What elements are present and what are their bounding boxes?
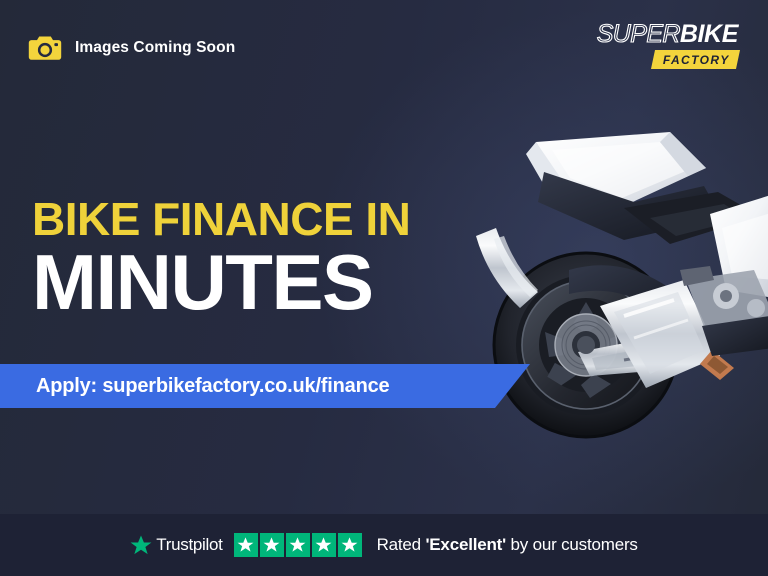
- camera-icon: [28, 35, 62, 61]
- headline-line-2: MINUTES: [32, 244, 410, 320]
- top-bar: Images Coming Soon SUPERBIKE FACTORY: [0, 0, 768, 96]
- rated-excellent-text: Rated 'Excellent' by our customers: [377, 535, 638, 555]
- star-icon: [263, 537, 280, 553]
- headline-line-1: BIKE FINANCE IN: [32, 196, 410, 242]
- trustpilot-footer: Trustpilot: [0, 514, 768, 576]
- superbike-factory-logo[interactable]: SUPERBIKE FACTORY: [608, 22, 738, 74]
- rated-emphasis: 'Excellent': [425, 535, 506, 554]
- rating-star-5: [338, 533, 362, 557]
- images-coming-soon-label: Images Coming Soon: [75, 39, 235, 57]
- logo-factory-banner: FACTORY: [608, 50, 738, 69]
- trustpilot-rating-stars: [234, 533, 362, 557]
- headline-block: BIKE FINANCE IN MINUTES: [32, 196, 410, 320]
- images-coming-soon: Images Coming Soon: [28, 35, 235, 61]
- rated-prefix: Rated: [377, 535, 426, 554]
- promo-banner: Images Coming Soon SUPERBIKE FACTORY BIK…: [0, 0, 768, 576]
- trustpilot-star-icon: [130, 535, 152, 556]
- trustpilot-brand[interactable]: Trustpilot: [130, 535, 222, 556]
- star-icon: [341, 537, 358, 553]
- rating-star-3: [286, 533, 310, 557]
- trustpilot-name: Trustpilot: [156, 535, 222, 555]
- logo-bike-text: BIKE: [680, 22, 738, 47]
- rating-star-2: [260, 533, 284, 557]
- star-icon: [315, 537, 332, 553]
- logo-wordmark: SUPERBIKE: [608, 22, 738, 47]
- logo-factory-text: FACTORY: [663, 54, 730, 66]
- star-icon: [289, 537, 306, 553]
- rating-star-1: [234, 533, 258, 557]
- logo-factory-badge: FACTORY: [651, 50, 740, 69]
- logo-super-text: SUPER: [597, 22, 680, 47]
- apply-url-text: Apply: superbikefactory.co.uk/finance: [36, 375, 389, 398]
- apply-url-banner[interactable]: Apply: superbikefactory.co.uk/finance: [0, 364, 530, 408]
- star-icon: [237, 537, 254, 553]
- rated-suffix: by our customers: [506, 535, 638, 554]
- rating-star-4: [312, 533, 336, 557]
